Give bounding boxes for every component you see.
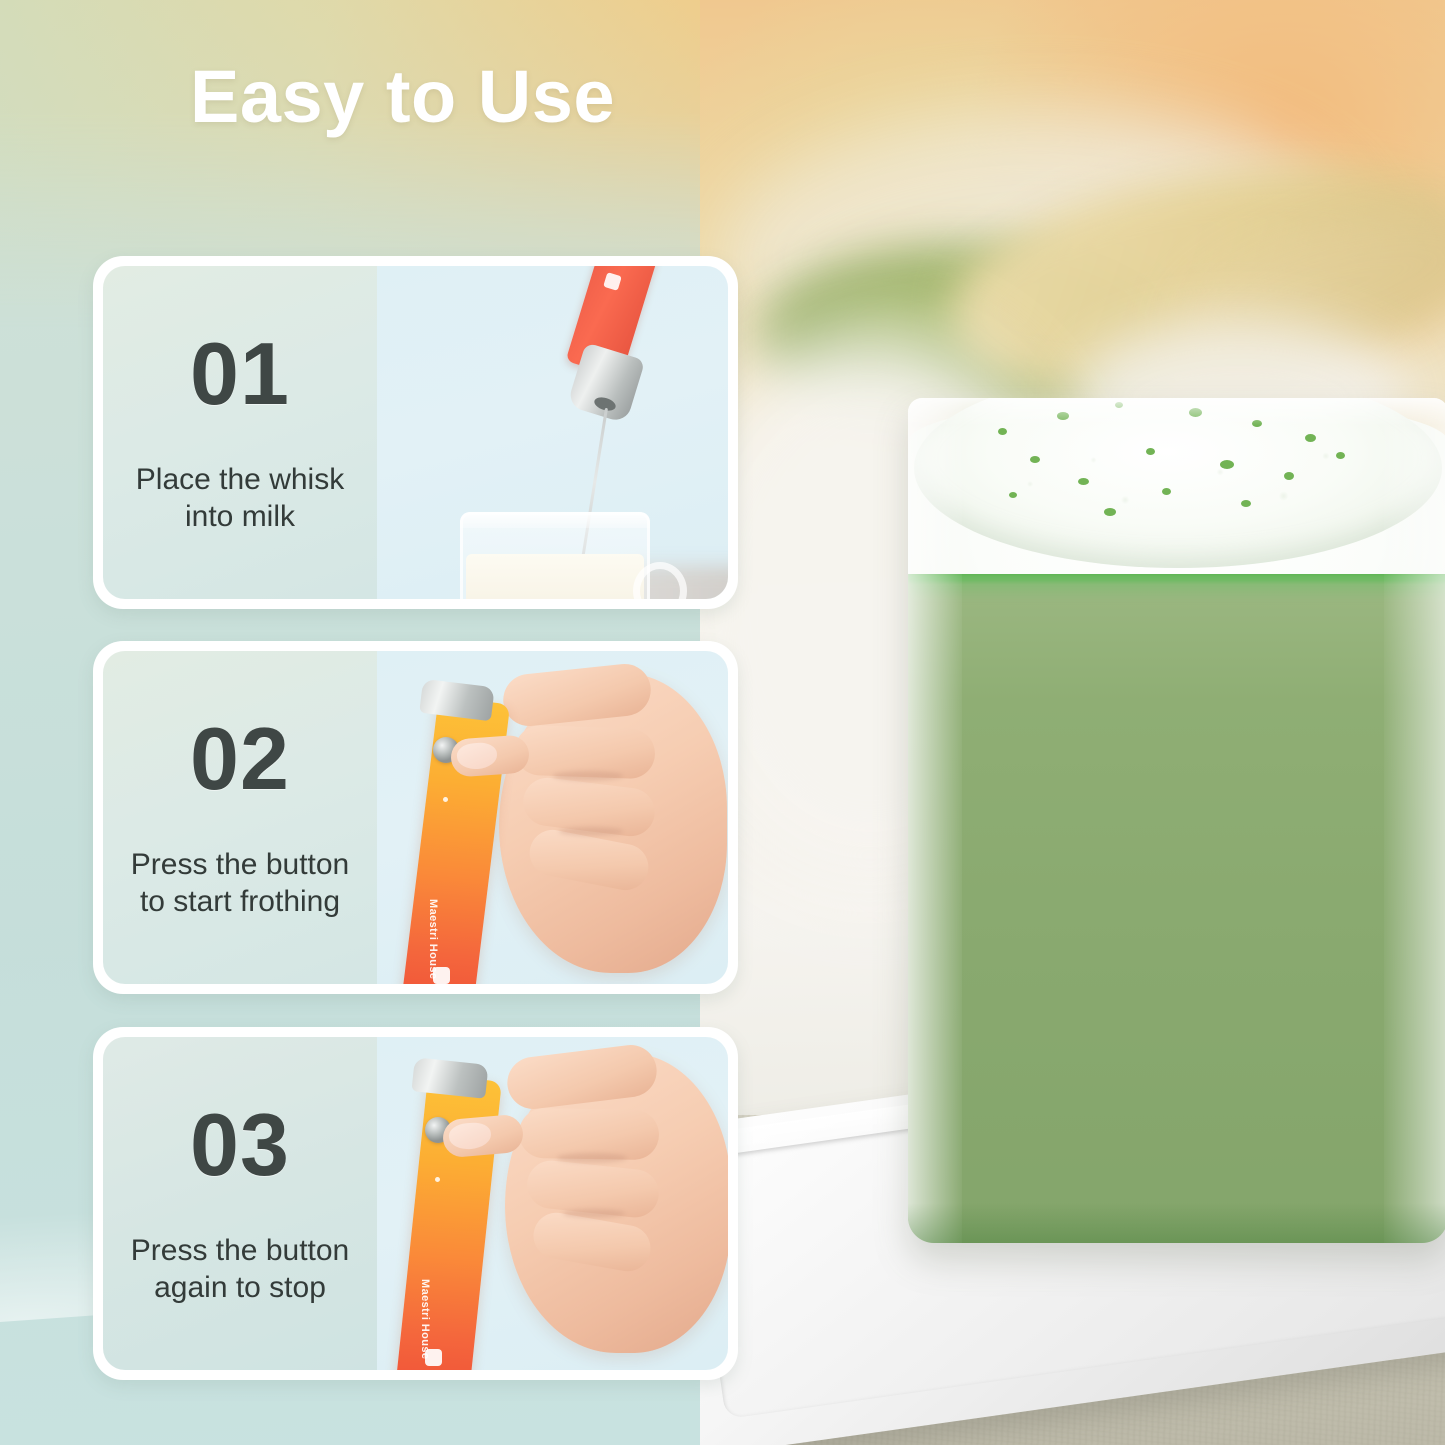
brand-logo-icon — [425, 1349, 442, 1366]
matcha-latte-glass — [908, 398, 1445, 1243]
step-2-label: Press the button to start frothing — [131, 847, 349, 920]
step-card-2: 02 Press the button to start frothing Ma… — [93, 641, 738, 994]
matcha-band-blend — [908, 574, 1445, 600]
step-card-1: 01 Place the whisk into milk — [93, 256, 738, 609]
step-1-photo — [377, 266, 728, 599]
glass-base-shadow — [908, 1203, 1445, 1243]
brand-logo-icon — [433, 967, 450, 984]
step-2-number: 02 — [190, 715, 290, 803]
step-1-number: 01 — [190, 330, 290, 418]
glass-rim — [908, 398, 1445, 426]
mug-rim — [460, 512, 650, 528]
matcha-liquid — [908, 548, 1445, 1243]
glass-right-highlight — [1384, 398, 1445, 1243]
step-1-text-panel: 01 Place the whisk into milk — [103, 266, 377, 599]
step-3-photo: Maestri House — [377, 1037, 728, 1370]
step-2-photo: Maestri House — [377, 651, 728, 984]
wand-metal-cap — [411, 1057, 488, 1099]
step-3-number: 03 — [190, 1101, 290, 1189]
step-3-label: Press the button again to stop — [131, 1233, 349, 1306]
step-card-3: 03 Press the button again to stop Maestr… — [93, 1027, 738, 1380]
hero-photo — [700, 0, 1445, 1445]
page-title: Easy to Use — [190, 60, 615, 134]
step-3-text-panel: 03 Press the button again to stop — [103, 1037, 377, 1370]
wand-metal-cap — [419, 679, 495, 722]
milk-glass-mug — [460, 512, 650, 599]
step-2-text-panel: 02 Press the button to start frothing — [103, 651, 377, 984]
glass-left-highlight — [908, 398, 962, 1243]
step-1-label: Place the whisk into milk — [136, 462, 344, 535]
infographic-stage: Easy to Use 01 Place the whisk into milk… — [0, 0, 1445, 1445]
milk-fill — [466, 554, 644, 599]
brand-name-label: Maestri House — [419, 1279, 431, 1359]
